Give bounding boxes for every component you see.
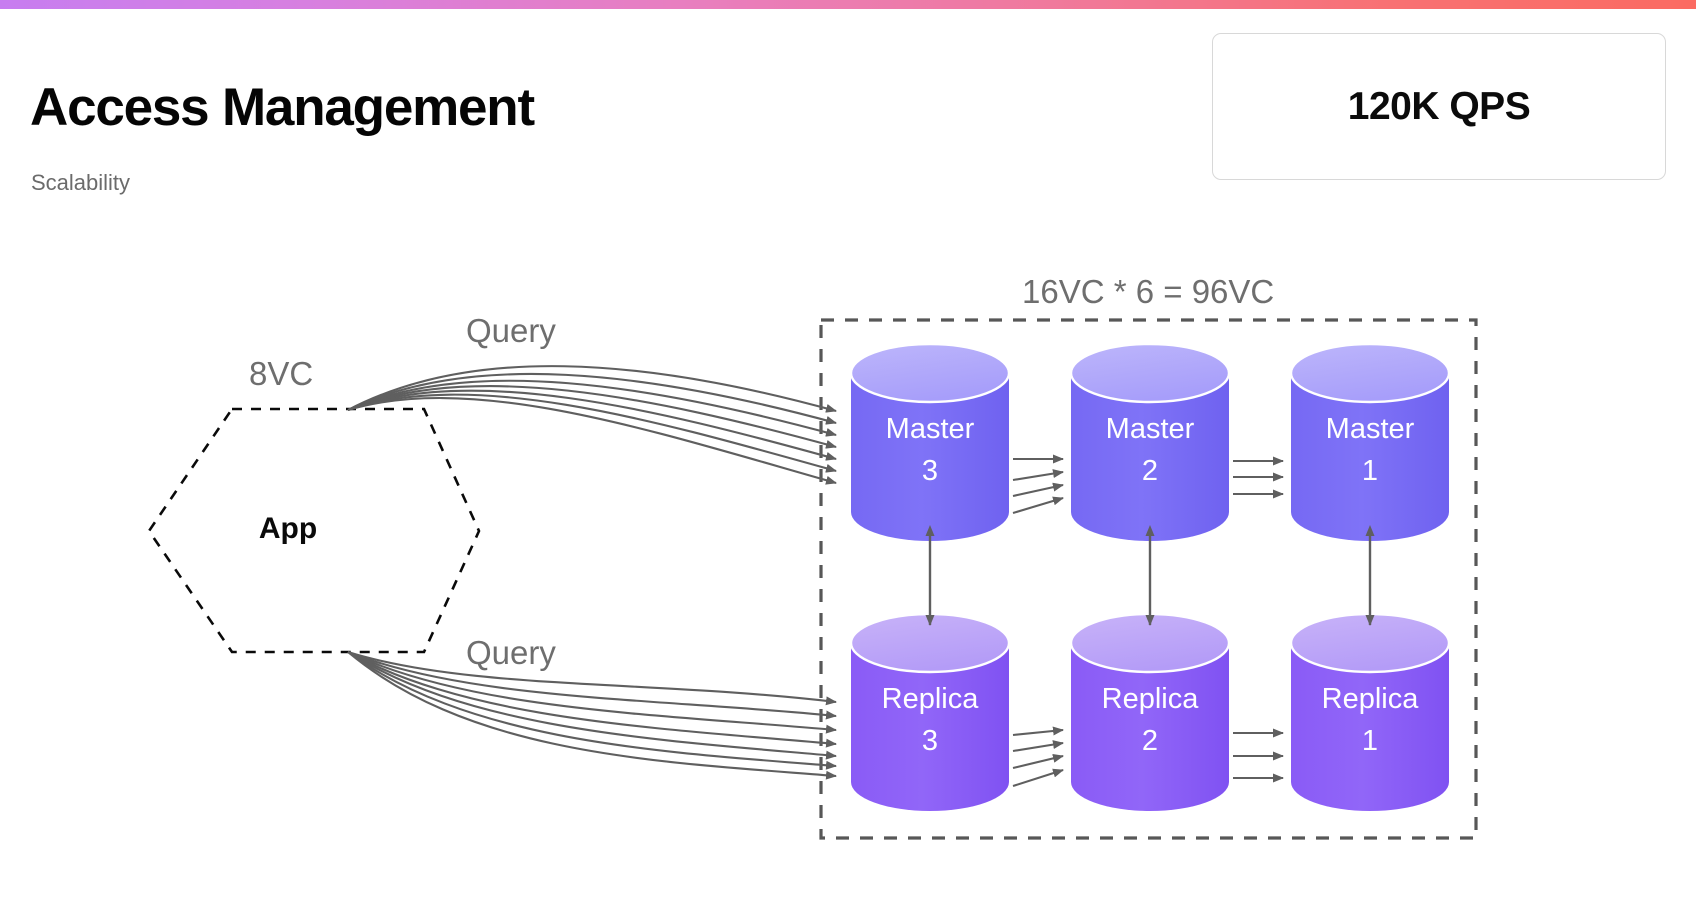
architecture-diagram: [0, 0, 1696, 903]
query-lines-replica: [348, 652, 836, 776]
db-node-replica-1[interactable]: [1291, 614, 1449, 811]
query-label-top: Query: [466, 312, 556, 350]
db-node-master-3[interactable]: [851, 344, 1009, 541]
repl-arrows-m2-m1: [1233, 461, 1283, 494]
app-node-label: App: [248, 512, 328, 546]
repl-arrows-m3-m2: [1013, 459, 1063, 513]
repl-arrows-r3-r2: [1013, 730, 1063, 786]
db-node-replica-2[interactable]: [1071, 614, 1229, 811]
repl-arrows-r2-r1: [1233, 733, 1283, 778]
app-capacity-label: 8VC: [249, 355, 313, 393]
db-node-master-2[interactable]: [1071, 344, 1229, 541]
query-label-bottom: Query: [466, 634, 556, 672]
db-node-replica-3[interactable]: [851, 614, 1009, 811]
slide-root: Access Management Scalability 120K QPS: [0, 0, 1696, 903]
cluster-capacity-label: 16VC * 6 = 96VC: [1022, 273, 1274, 311]
db-node-master-1[interactable]: [1291, 344, 1449, 541]
sync-arrows: [930, 535, 1370, 625]
